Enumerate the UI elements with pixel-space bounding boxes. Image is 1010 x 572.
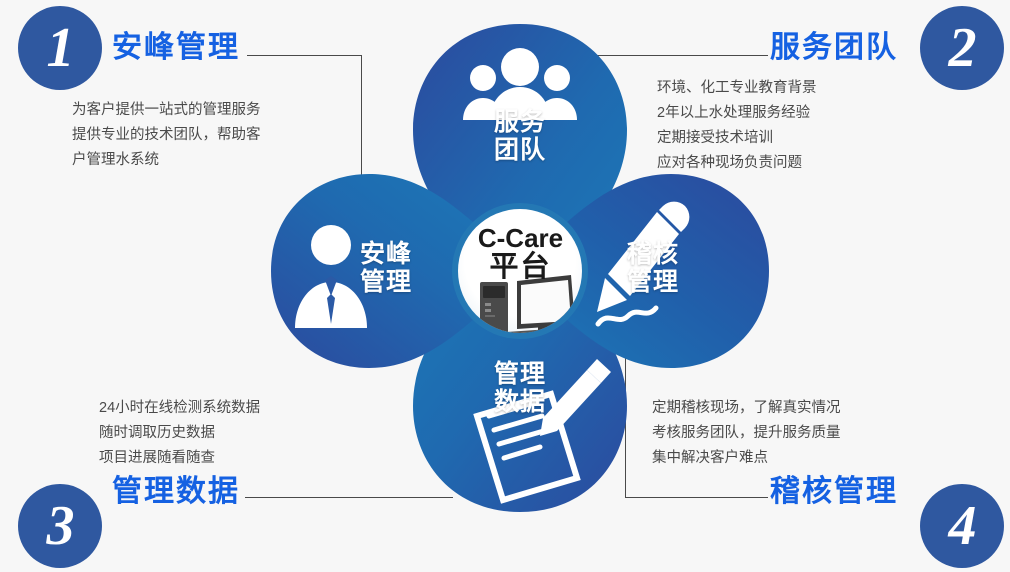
section-badge-2: 2 bbox=[920, 6, 1004, 90]
badge-number: 3 bbox=[47, 498, 74, 554]
flower-diagram: 服务 团队 稽核 管理 管理 数据 安峰 管理 C-Care 平台 bbox=[255, 8, 785, 528]
badge-number: 4 bbox=[949, 498, 976, 554]
section-heading-3: 管理数据 bbox=[112, 466, 240, 510]
body-line: 项目进展随看随查 bbox=[99, 446, 260, 471]
section-body-1: 为客户提供一站式的管理服务 提供专业的技术团队，帮助客 户管理水系统 bbox=[72, 98, 261, 173]
section-heading-1: 安峰管理 bbox=[112, 22, 240, 66]
section-badge-3: 3 bbox=[18, 484, 102, 568]
body-line: 为客户提供一站式的管理服务 bbox=[72, 98, 261, 123]
body-line: 随时调取历史数据 bbox=[99, 421, 260, 446]
section-body-3: 24小时在线检测系统数据 随时调取历史数据 项目进展随看随查 bbox=[99, 396, 260, 471]
section-heading-2: 服务团队 bbox=[770, 22, 898, 66]
badge-number: 1 bbox=[47, 20, 74, 76]
section-badge-1: 1 bbox=[18, 6, 102, 90]
badge-number: 2 bbox=[949, 20, 976, 76]
infographic-canvas: 1 2 3 4 安峰管理 服务团队 管理数据 稽核管理 为客户提供一站式的管理服… bbox=[0, 0, 1010, 572]
body-line: 24小时在线检测系统数据 bbox=[99, 396, 260, 421]
section-badge-4: 4 bbox=[920, 484, 1004, 568]
section-heading-4: 稽核管理 bbox=[770, 466, 898, 510]
body-line: 提供专业的技术团队，帮助客 bbox=[72, 123, 261, 148]
body-line: 户管理水系统 bbox=[72, 148, 261, 173]
